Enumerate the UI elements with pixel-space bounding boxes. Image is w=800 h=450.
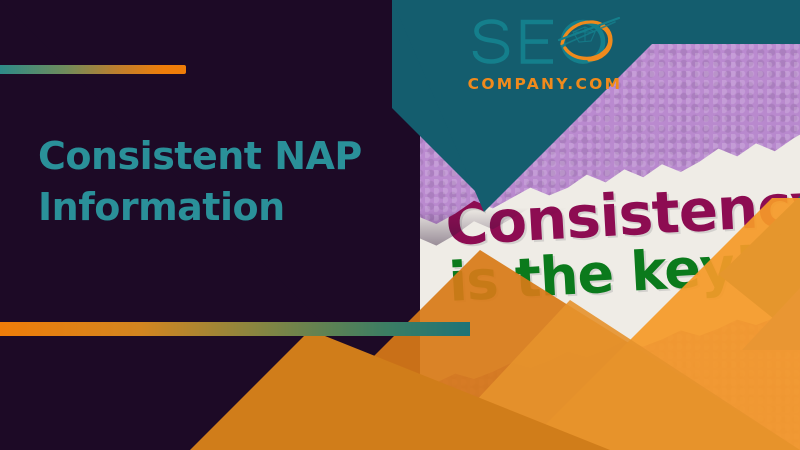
seo-banner: Consistency is the key! Consistent NAP I… (0, 0, 800, 450)
logo[interactable]: COMPANY.COM (461, 16, 633, 94)
logo-tagline: COMPANY.COM (465, 75, 625, 93)
gradient-rule-top (0, 65, 186, 74)
gradient-rule-middle (0, 322, 470, 336)
page-title: Consistent NAP Information (38, 131, 438, 232)
logo-wordmark-icon (461, 16, 633, 78)
